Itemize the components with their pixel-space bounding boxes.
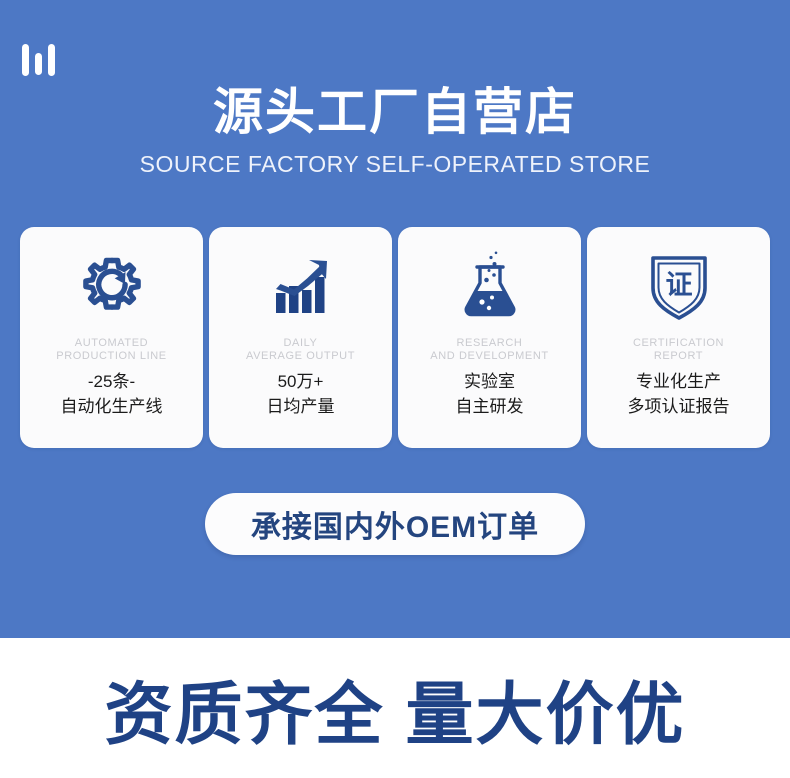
card-english-line2: AND DEVELOPMENT xyxy=(430,350,548,363)
bottom-slogan-text: 资质齐全 量大价优 xyxy=(105,659,686,758)
oem-order-pill-button[interactable]: 承接国内外OEM订单 xyxy=(205,493,585,555)
bar-chart-growth-icon xyxy=(267,239,335,335)
card-chinese-text: 50万+ 日均产量 xyxy=(267,369,335,419)
feature-card-research-development[interactable]: RESEARCH AND DEVELOPMENT 实验室 自主研发 xyxy=(398,227,581,448)
card-english-line1: DAILY xyxy=(246,337,355,350)
card-label: 自动化生产线 xyxy=(61,394,163,419)
card-label: 自主研发 xyxy=(456,394,524,419)
card-english-line1: RESEARCH xyxy=(430,337,548,350)
card-english-line1: CERTIFICATION xyxy=(633,337,724,350)
card-english-text: CERTIFICATION REPORT xyxy=(627,337,730,363)
bottom-slogan-section: 资质齐全 量大价优 xyxy=(0,638,790,778)
three-bars-logo-icon xyxy=(22,44,62,80)
card-english-line1: AUTOMATED xyxy=(56,337,166,350)
hero-section: 源头工厂自营店 SOURCE FACTORY SELF-OPERATED STO… xyxy=(0,0,790,638)
feature-card-automated-production-line[interactable]: AUTOMATED PRODUCTION LINE -25条- 自动化生产线 xyxy=(20,227,203,448)
oem-order-pill-label: 承接国内外OEM订单 xyxy=(251,502,539,546)
card-english-text: AUTOMATED PRODUCTION LINE xyxy=(50,337,172,363)
card-chinese-text: 专业化生产 多项认证报告 xyxy=(628,369,730,419)
card-value: 专业化生产 xyxy=(628,369,730,394)
card-chinese-text: -25条- 自动化生产线 xyxy=(61,369,163,419)
card-value: 50万+ xyxy=(267,369,335,394)
card-english-text: RESEARCH AND DEVELOPMENT xyxy=(424,337,554,363)
logo-bar-1 xyxy=(22,44,29,76)
card-label: 日均产量 xyxy=(267,394,335,419)
gear-icon xyxy=(78,239,146,335)
certification-shield-icon: 证 xyxy=(646,239,712,335)
hero-title: 源头工厂自营店 xyxy=(0,82,790,142)
flask-icon xyxy=(456,239,524,335)
feature-card-list: AUTOMATED PRODUCTION LINE -25条- 自动化生产线 xyxy=(20,227,770,448)
svg-text:证: 证 xyxy=(665,270,692,300)
logo-bar-3 xyxy=(48,44,55,76)
card-value: 实验室 xyxy=(456,369,524,394)
card-label: 多项认证报告 xyxy=(628,394,730,419)
logo-bar-2 xyxy=(35,53,42,75)
hero-subtitle: SOURCE FACTORY SELF-OPERATED STORE xyxy=(0,150,790,178)
card-english-text: DAILY AVERAGE OUTPUT xyxy=(240,337,361,363)
card-english-line2: PRODUCTION LINE xyxy=(56,350,166,363)
card-english-line2: AVERAGE OUTPUT xyxy=(246,350,355,363)
card-chinese-text: 实验室 自主研发 xyxy=(456,369,524,419)
card-value: -25条- xyxy=(61,369,163,394)
promo-banner: 源头工厂自营店 SOURCE FACTORY SELF-OPERATED STO… xyxy=(0,0,790,778)
feature-card-certification-report[interactable]: 证 CERTIFICATION REPORT 专业化生产 多项认证报告 xyxy=(587,227,770,448)
card-english-line2: REPORT xyxy=(633,350,724,363)
feature-card-daily-average-output[interactable]: DAILY AVERAGE OUTPUT 50万+ 日均产量 xyxy=(209,227,392,448)
